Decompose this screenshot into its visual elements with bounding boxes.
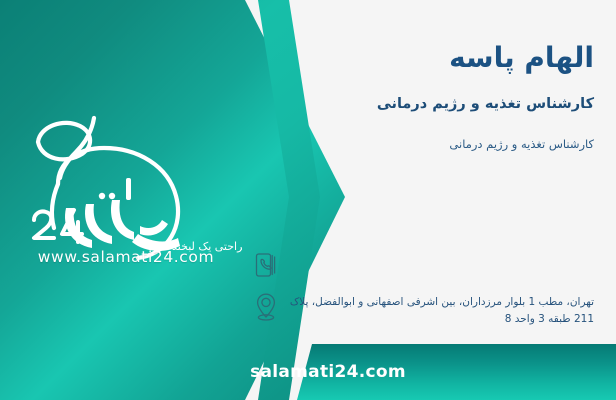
person-name: الهام پاسه [249, 40, 594, 75]
phone-value [283, 248, 594, 252]
contact-block: تهران، مطب 1 بلوار مرزداران، بین اشرفی ا… [249, 248, 594, 335]
business-card: براحتی یک لبخند www.salamati24.com الهام… [0, 0, 616, 400]
logo-website-url: www.salamati24.com [26, 248, 226, 266]
address-value: تهران، مطب 1 بلوار مرزداران، بین اشرفی ا… [283, 290, 594, 329]
person-role: کارشناس تغذیه و رژیم درمانی [249, 94, 594, 114]
card-details: الهام پاسه کارشناس تغذیه و رژیم درمانی ک… [249, 0, 594, 400]
person-role-secondary: کارشناس تغذیه و رژیم درمانی [249, 136, 594, 152]
contact-row-address: تهران، مطب 1 بلوار مرزداران، بین اشرفی ا… [249, 290, 594, 329]
map-pin-icon [249, 290, 283, 324]
footer-website[interactable]: salamati24.com [0, 344, 616, 400]
contact-row-phone [249, 248, 594, 284]
phone-book-icon [249, 248, 283, 282]
